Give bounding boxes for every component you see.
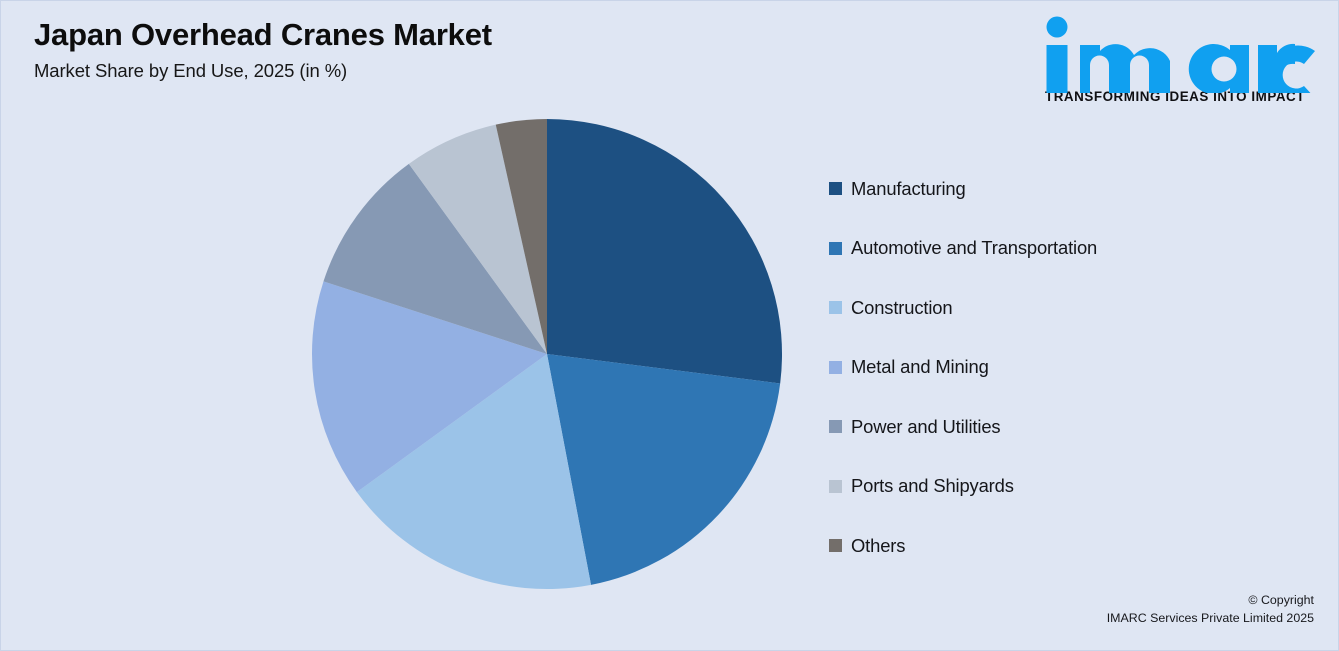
chart-canvas: Japan Overhead Cranes Market Market Shar… (0, 0, 1339, 651)
legend-item-construction[interactable]: Construction (829, 278, 1259, 338)
legend-item-metal-and-mining[interactable]: Metal and Mining (829, 338, 1259, 398)
legend-label: Construction (851, 297, 952, 319)
legend-swatch-icon (829, 242, 842, 255)
imarc-logo: TRANSFORMING IDEAS INTO IMPACT (1034, 15, 1316, 104)
legend-item-automotive-and-transportation[interactable]: Automotive and Transportation (829, 219, 1259, 279)
legend-label: Others (851, 535, 905, 557)
chart-header: Japan Overhead Cranes Market Market Shar… (34, 17, 734, 82)
legend-item-ports-and-shipyards[interactable]: Ports and Shipyards (829, 457, 1259, 517)
imarc-wordmark-icon (1034, 15, 1316, 93)
pie-slice-manufacturing[interactable] (547, 119, 782, 383)
copyright-footer: © Copyright IMARC Services Private Limit… (1107, 592, 1314, 628)
legend-swatch-icon (829, 361, 842, 374)
legend-swatch-icon (829, 182, 842, 195)
legend-swatch-icon (829, 420, 842, 433)
logo-dot-icon (1047, 17, 1068, 38)
legend-label: Metal and Mining (851, 356, 989, 378)
legend-label: Ports and Shipyards (851, 475, 1014, 497)
copyright-entity: IMARC Services Private Limited 2025 (1107, 610, 1314, 628)
legend-item-power-and-utilities[interactable]: Power and Utilities (829, 397, 1259, 457)
pie-chart (311, 118, 783, 590)
legend-label: Power and Utilities (851, 416, 1000, 438)
legend-swatch-icon (829, 480, 842, 493)
copyright-line: © Copyright (1107, 592, 1314, 610)
pie-slice-group (312, 119, 782, 589)
legend-swatch-icon (829, 539, 842, 552)
page-title: Japan Overhead Cranes Market (34, 17, 734, 53)
chart-subtitle: Market Share by End Use, 2025 (in %) (34, 60, 734, 82)
legend-swatch-icon (829, 301, 842, 314)
legend-item-others[interactable]: Others (829, 516, 1259, 576)
legend-label: Manufacturing (851, 178, 966, 200)
legend-item-manufacturing[interactable]: Manufacturing (829, 159, 1259, 219)
legend-label: Automotive and Transportation (851, 237, 1097, 259)
chart-legend: Manufacturing Automotive and Transportat… (829, 159, 1259, 576)
